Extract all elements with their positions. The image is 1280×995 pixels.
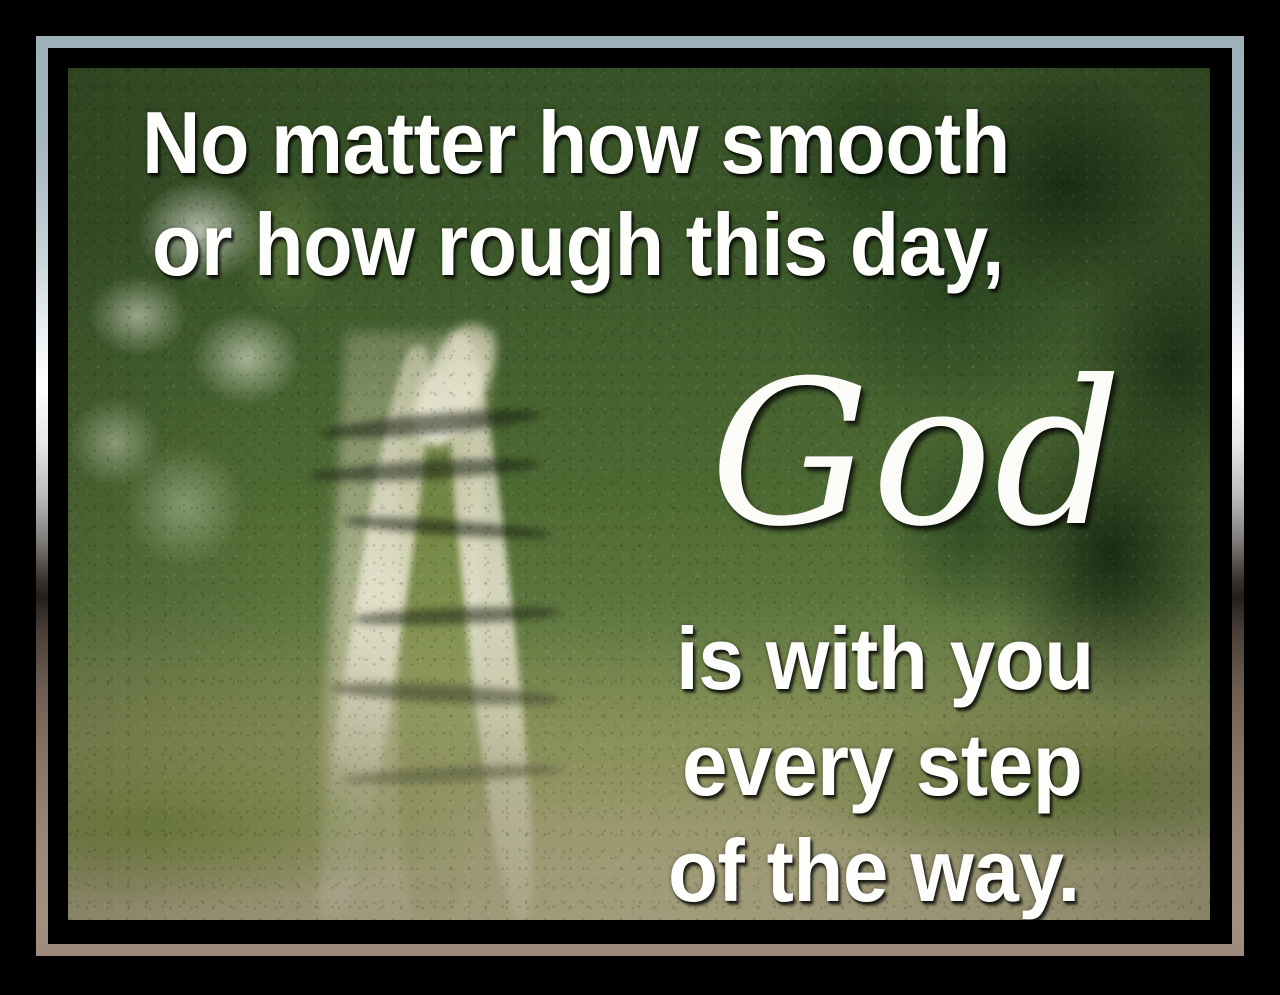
quote-line-4: is with you [676, 608, 1094, 710]
quote-overlay: No matter how smooth or how rough this d… [68, 68, 1210, 920]
quote-line-5: every step [682, 714, 1082, 816]
background-photograph: No matter how smooth or how rough this d… [68, 68, 1210, 920]
quote-word-god: God [710, 338, 1124, 571]
quote-line-6: of the way. [668, 820, 1080, 920]
quote-line-1: No matter how smooth [142, 92, 1010, 194]
quote-poster: No matter how smooth or how rough this d… [0, 0, 1280, 995]
quote-line-2: or how rough this day, [152, 194, 1004, 296]
